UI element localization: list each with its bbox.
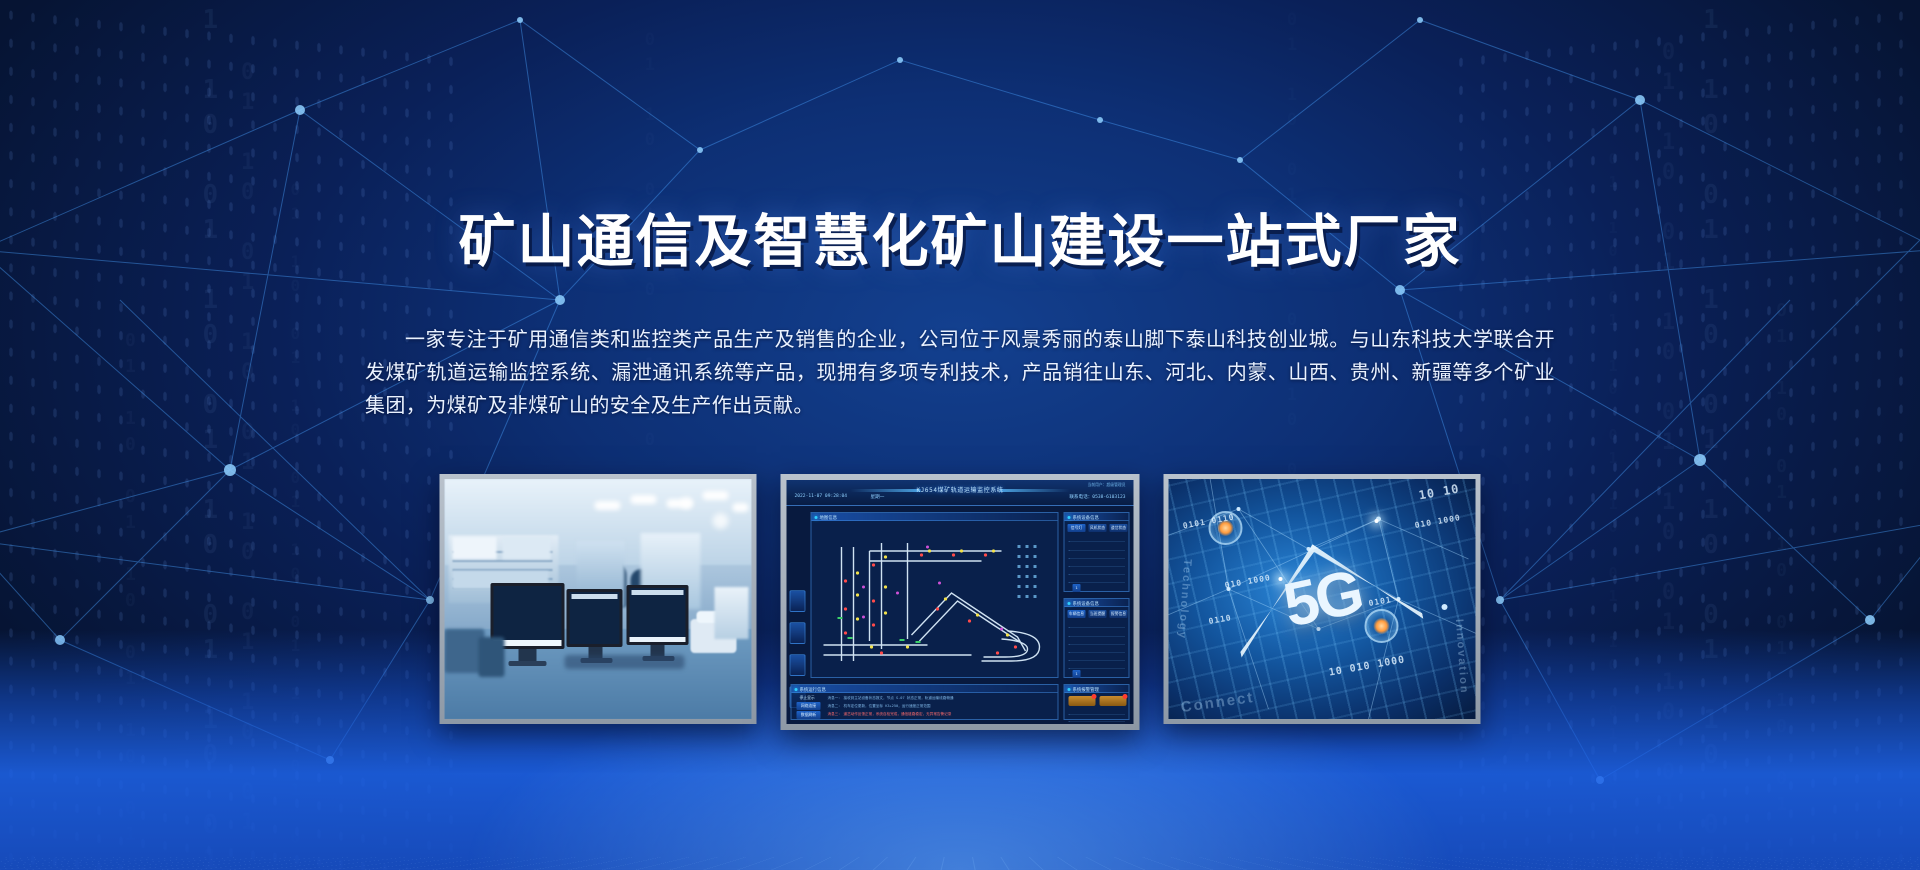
- table-row[interactable]: [1069, 630, 1125, 637]
- gallery-card-5g[interactable]: 5G 0101 0110 010 1000 010 1000 0101 0110…: [1164, 474, 1481, 724]
- device-panel-2-title: 系统设备信息: [1073, 601, 1099, 607]
- table-row[interactable]: [1069, 560, 1125, 567]
- dashboard-datetime: 2022-11-07 09:28:04: [795, 494, 848, 499]
- log-line-1-tag: 消息二：: [828, 704, 842, 709]
- map-panel-title: 地图信息: [820, 515, 838, 521]
- dashboard-weekday: 星期一: [871, 494, 885, 500]
- log-line-0-text: 接收到主站设备状态报文，节点 S-07 状态正常，轨道运输线路畅通: [844, 696, 954, 701]
- table-row[interactable]: [1069, 708, 1125, 715]
- device-panel-2-tab-2[interactable]: 报警信息: [1110, 610, 1128, 618]
- device-panel-1-header: [1069, 535, 1125, 542]
- device-info-panel-1[interactable]: 系统设备信息 信号灯 风机状态 道岔状态 1: [1064, 512, 1130, 592]
- tool-视频监控查询[interactable]: [790, 654, 806, 676]
- page-background: 01 10 01 10 01 10 01 10 01 01 10 01 10 0…: [0, 0, 1920, 870]
- log-panel-title: 系统运行信息: [800, 687, 826, 693]
- dashboard-contact: 联系电话：0538-6103123: [1069, 494, 1125, 500]
- device-panel-2-tab-1[interactable]: 当班提醒: [1089, 610, 1107, 618]
- device-panel-1-tab-1[interactable]: 风机状态: [1089, 524, 1107, 532]
- log-line-0-tag: 消息一：: [828, 696, 842, 701]
- rail-transport-dashboard: KJ654煤矿轨道运输监控系统 2022-11-07 09:28:04 星期一 …: [787, 480, 1134, 724]
- device-panel-1-pager[interactable]: 1: [1073, 584, 1081, 592]
- page-title: 矿山通信及智慧化矿山建设一站式厂家: [0, 196, 1920, 278]
- log-stop-label: 停止显示: [800, 695, 815, 701]
- log-line-2-tag: 消息三：: [828, 712, 842, 717]
- spark-light-2: [1279, 577, 1283, 581]
- system-log-panel[interactable]: 系统运行信息 停止显示 网络连接 数据刷新 消息一： 接收到主站设备状态报文，节…: [791, 684, 1059, 720]
- table-row[interactable]: [1069, 552, 1125, 559]
- table-row[interactable]: [1069, 568, 1125, 575]
- alarm-panel-title: 系统报警管理: [1073, 687, 1099, 693]
- device-panel-1-tab-0[interactable]: 信号灯: [1068, 524, 1086, 532]
- table-row[interactable]: [1069, 715, 1125, 722]
- dashboard-current-user[interactable]: 当前用户：超级管理员: [1088, 482, 1126, 488]
- log-line-1-text: 机车定位更新，位置坐标 K3+250，运行速度正常范围: [844, 704, 931, 709]
- gallery-card-dashboard[interactable]: KJ654煤矿轨道运输监控系统 2022-11-07 09:28:04 星期一 …: [781, 474, 1140, 730]
- tool-工况图监控[interactable]: [790, 622, 806, 644]
- log-line-2-text: 道岔动作反馈正常，系统自检完成，通信链路稳定，无异常告警记录: [844, 712, 952, 717]
- map-panel[interactable]: 地图信息: [811, 512, 1059, 678]
- log-button-1[interactable]: 数据刷新: [797, 711, 821, 719]
- alarm-badge-1: [1123, 694, 1128, 699]
- table-row[interactable]: [1069, 662, 1125, 669]
- device-panel-1-title: 系统设备信息: [1073, 515, 1099, 521]
- intro-paragraph: 一家专注于矿用通信类和监控类产品生产及销售的企业，公司位于风景秀丽的泰山脚下泰山…: [365, 324, 1555, 423]
- device-panel-2-pager[interactable]: 1: [1073, 670, 1081, 678]
- image-gallery: KJ654煤矿轨道运输监控系统 2022-11-07 09:28:04 星期一 …: [440, 474, 1481, 730]
- table-row[interactable]: [1069, 638, 1125, 645]
- dashboard-title: KJ654煤矿轨道运输监控系统: [787, 485, 1134, 494]
- log-button-0[interactable]: 网络连接: [797, 702, 821, 710]
- tool-运输过程监控[interactable]: [790, 590, 806, 612]
- table-row[interactable]: [1069, 576, 1125, 583]
- control-room-photo: [445, 479, 752, 719]
- five-g-network-graphic: 5G 0101 0110 010 1000 010 1000 0101 0110…: [1169, 479, 1476, 719]
- device-info-panel-2[interactable]: 系统设备信息 车辆信息 当班提醒 报警信息 1: [1064, 598, 1130, 678]
- table-row[interactable]: [1069, 646, 1125, 653]
- table-row[interactable]: [1069, 544, 1125, 551]
- gallery-card-control-room[interactable]: [440, 474, 757, 724]
- device-panel-2-header: [1069, 621, 1125, 628]
- alarm-panel[interactable]: 系统报警管理: [1064, 684, 1130, 720]
- spark-light: [1375, 519, 1379, 523]
- device-panel-2-tab-0[interactable]: 车辆信息: [1068, 610, 1086, 618]
- alarm-badge-0: [1092, 694, 1097, 699]
- device-panel-1-tab-2[interactable]: 道岔状态: [1110, 524, 1128, 532]
- table-row[interactable]: [1069, 654, 1125, 661]
- hud-ring-bottom-right: [1365, 609, 1399, 643]
